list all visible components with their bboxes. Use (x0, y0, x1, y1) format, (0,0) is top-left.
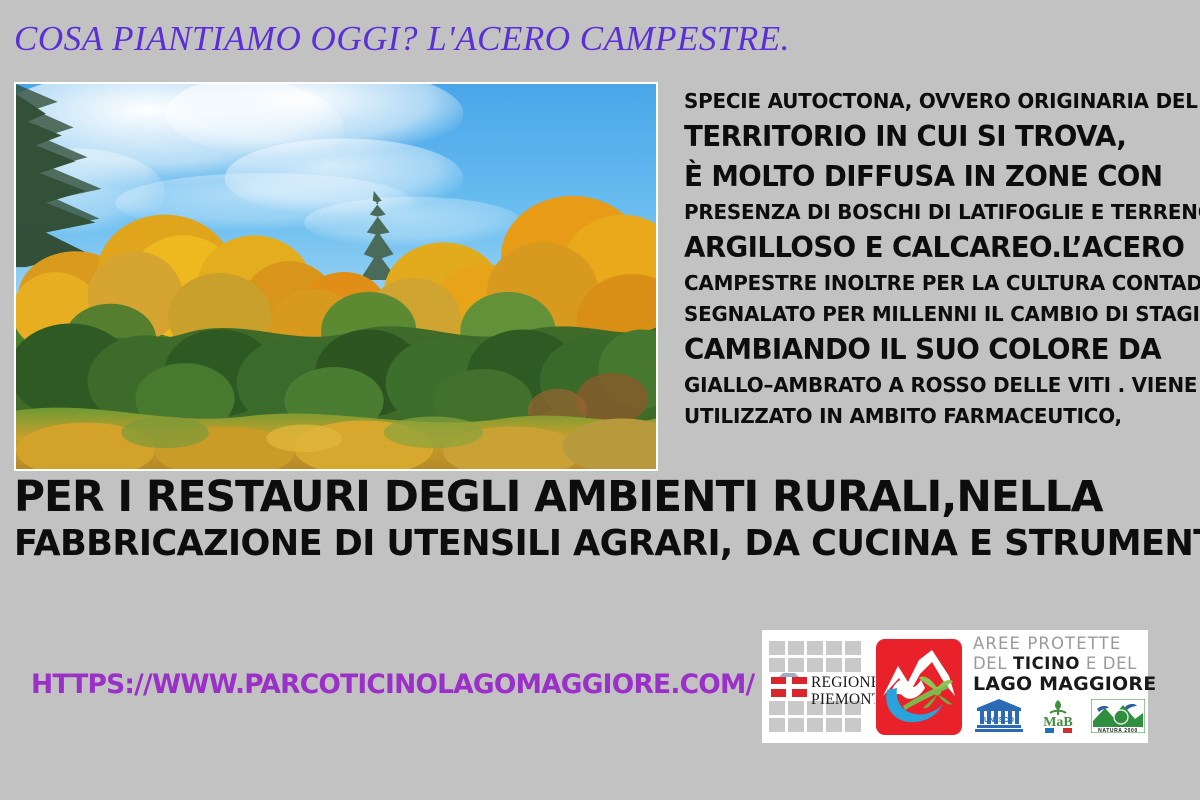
page-title: COSA PIANTIAMO OGGI? L'ACERO CAMPESTRE. (14, 18, 1024, 60)
svg-text:REGIONE: REGIONE (811, 674, 875, 691)
unesco-logo-icon: UNESCO (973, 699, 1025, 733)
aree-protette-block: AREE PROTETTE DEL TICINO E DEL LAGO MAGG… (967, 634, 1156, 739)
description-bottom-lines: PER I RESTAURI DEGLI AMBIENTI RURALI,NEL… (14, 472, 1189, 566)
description-line: PER I RESTAURI DEGLI AMBIENTI RURALI,NEL… (14, 472, 1171, 522)
svg-text:MaB: MaB (1043, 715, 1073, 730)
aree-protette-line3: LAGO MAGGIORE (973, 675, 1156, 694)
logo-panel: REGIONE PIEMONTE AREE PROTETTE (762, 630, 1148, 743)
certification-logos: UNESCO MaB NATURA (973, 699, 1156, 733)
aree-protette-line2-suffix: E DEL (1080, 654, 1137, 673)
description-line: PRESENZA DI BOSCHI DI LATIFOGLIE E TERRE… (684, 197, 1169, 228)
natura-2000-logo-icon: NATURA 2000 (1091, 699, 1145, 733)
aree-protette-line1: AREE PROTETTE (973, 636, 1156, 653)
park-brand-icon (875, 634, 963, 739)
parco-ticino-lago-maggiore-icon (875, 638, 963, 736)
description-line: È MOLTO DIFFUSA IN ZONE CON (684, 157, 1169, 197)
description-line: UTILIZZATO IN AMBITO FARMACEUTICO, (684, 401, 1169, 432)
description-right-column: SPECIE AUTOCTONA, OVVERO ORIGINARIA DEL … (684, 86, 1184, 468)
autumn-forest-photo (14, 82, 658, 471)
aree-protette-line2: DEL TICINO E DEL (973, 656, 1156, 673)
description-line: SEGNALATO PER MILLENNI IL CAMBIO DI STAG… (684, 299, 1169, 330)
mab-logo-icon: MaB (1037, 699, 1079, 733)
description-line: TERRITORIO IN CUI SI TROVA, (684, 117, 1169, 157)
description-line: FABBRICAZIONE DI UTENSILI AGRARI, DA CUC… (14, 522, 1177, 566)
svg-text:PIEMONTE: PIEMONTE (811, 691, 875, 708)
aree-protette-line2-prefix: DEL (973, 654, 1013, 673)
description-line: CAMPESTRE INOLTRE PER LA CULTURA CONTADI… (684, 268, 1169, 299)
description-line: CAMBIANDO IL SUO COLORE DA (684, 330, 1169, 370)
regione-piemonte-icon: REGIONE PIEMONTE (767, 637, 875, 737)
website-url-link[interactable]: HTTPS://WWW.PARCOTICINOLAGOMAGGIORE.COM/ (31, 669, 754, 700)
description-line: ARGILLOSO E CALCAREO.L’ACERO (684, 228, 1169, 268)
svg-text:UNESCO: UNESCO (984, 717, 1015, 724)
svg-text:NATURA 2000: NATURA 2000 (1098, 728, 1138, 733)
description-line: GIALLO–AMBRATO A ROSSO DELLE VITI . VIEN… (684, 370, 1169, 401)
description-line: SPECIE AUTOCTONA, OVVERO ORIGINARIA DEL (684, 86, 1169, 117)
piemonte-cross-emblem (771, 673, 807, 697)
photo-illustration (16, 84, 656, 469)
regione-piemonte-logo: REGIONE PIEMONTE (767, 634, 875, 739)
aree-protette-line2-bold: TICINO (1013, 654, 1080, 673)
